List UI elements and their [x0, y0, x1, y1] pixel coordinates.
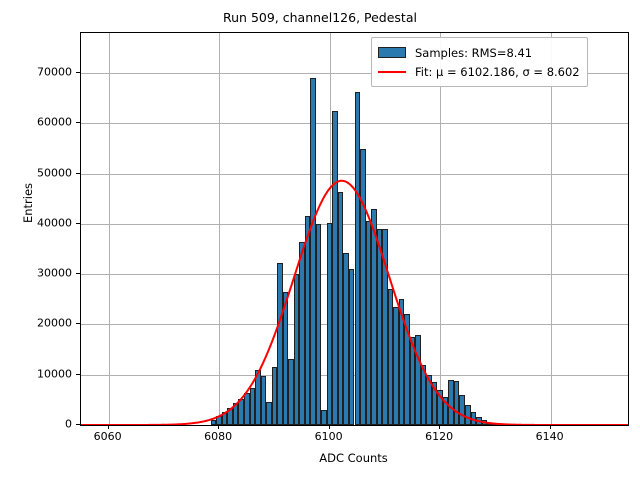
chart-legend: Samples: RMS=8.41 Fit: μ = 6102.186, σ =…: [371, 37, 588, 87]
y-tick-mark: [76, 173, 80, 174]
y-tick-label: 30000: [2, 267, 72, 280]
page-title: Run 509, channel126, Pedestal: [0, 10, 640, 25]
x-tick-label: 6120: [399, 430, 479, 443]
legend-item-fit: Fit: μ = 6102.186, σ = 8.602: [378, 62, 580, 81]
y-tick-label: 20000: [2, 317, 72, 330]
y-tick-mark: [76, 323, 80, 324]
x-tick-label: 6060: [68, 430, 148, 443]
y-tick-label: 50000: [2, 166, 72, 179]
legend-item-samples: Samples: RMS=8.41: [378, 43, 580, 62]
x-tick-label: 6080: [178, 430, 258, 443]
y-axis-label: Entries: [21, 113, 35, 293]
x-tick-mark: [108, 425, 109, 429]
y-tick-mark: [76, 374, 80, 375]
x-tick-mark: [329, 425, 330, 429]
y-tick-mark: [76, 273, 80, 274]
y-tick-mark: [76, 424, 80, 425]
y-tick-label: 40000: [2, 216, 72, 229]
legend-label-samples: Samples: RMS=8.41: [415, 46, 532, 60]
legend-label-fit: Fit: μ = 6102.186, σ = 8.602: [415, 65, 580, 79]
y-tick-mark: [76, 223, 80, 224]
fit-curve-layer: [81, 33, 628, 425]
legend-patch-icon: [378, 47, 406, 58]
y-tick-mark: [76, 122, 80, 123]
x-tick-label: 6140: [510, 430, 590, 443]
gaussian-fit-curve: [81, 181, 628, 425]
x-tick-mark: [439, 425, 440, 429]
x-axis-label: ADC Counts: [80, 451, 627, 465]
plot-axes: [80, 32, 629, 426]
y-tick-label: 10000: [2, 367, 72, 380]
y-tick-label: 70000: [2, 66, 72, 79]
x-tick-label: 6100: [289, 430, 369, 443]
y-tick-mark: [76, 72, 80, 73]
x-tick-mark: [550, 425, 551, 429]
x-tick-mark: [218, 425, 219, 429]
y-tick-label: 0: [2, 418, 72, 431]
chart-figure: Run 509, channel126, Pedestal 0100002000…: [0, 0, 640, 480]
legend-line-icon: [378, 71, 406, 73]
y-tick-label: 60000: [2, 116, 72, 129]
